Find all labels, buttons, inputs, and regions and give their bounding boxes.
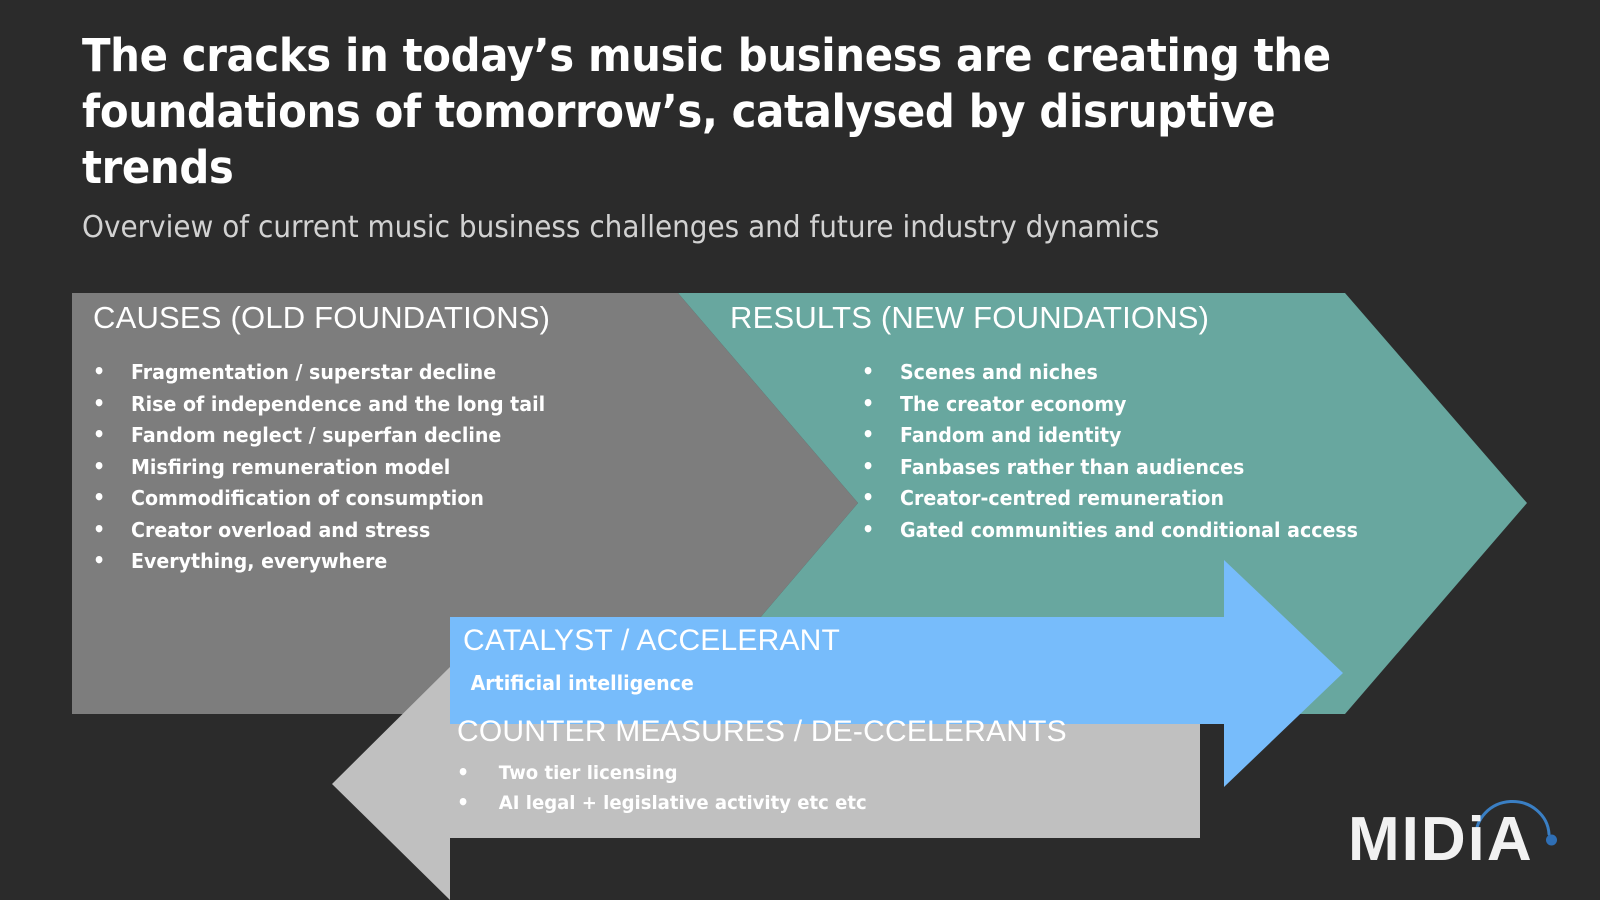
- logo-dot-icon: [1546, 835, 1557, 846]
- list-item: The creator economy: [862, 389, 1358, 421]
- list-item: Creator-centred remuneration: [862, 483, 1358, 515]
- causes-heading: CAUSES (OLD FOUNDATIONS): [93, 300, 550, 336]
- results-heading: RESULTS (NEW FOUNDATIONS): [730, 300, 1209, 336]
- list-item: Fandom neglect / superfan decline: [93, 420, 545, 452]
- slide-canvas: The cracks in today’s music business are…: [0, 0, 1600, 900]
- causes-bullet-list: Fragmentation / superstar decline Rise o…: [93, 357, 569, 578]
- list-item: Misfiring remuneration model: [93, 452, 545, 484]
- results-bullet-list: Scenes and niches The creator economy Fa…: [862, 357, 1384, 546]
- list-item: Gated communities and conditional access: [862, 515, 1358, 547]
- list-item: AI legal + legislative activity etc etc: [457, 788, 867, 818]
- catalyst-heading: CATALYST / ACCELERANT: [463, 624, 840, 658]
- list-item: Two tier licensing: [457, 758, 867, 788]
- logo-wordmark: MIDiA: [1348, 805, 1534, 872]
- catalyst-bullet-list: Artificial intelligence: [463, 668, 706, 700]
- list-item: Scenes and niches: [862, 357, 1358, 389]
- counter-measures-heading: COUNTER MEASURES / DE-CCELERANTS: [457, 715, 1067, 749]
- list-item: Creator overload and stress: [93, 515, 545, 547]
- list-item: Artificial intelligence: [463, 668, 694, 700]
- list-item: Rise of independence and the long tail: [93, 389, 545, 421]
- list-item: Fragmentation / superstar decline: [93, 357, 545, 389]
- midia-logo: MIDiA: [1348, 782, 1568, 872]
- counter-measures-bullet-list: Two tier licensing AI legal + legislativ…: [457, 758, 888, 818]
- list-item: Everything, everywhere: [93, 546, 545, 578]
- list-item: Fandom and identity: [862, 420, 1358, 452]
- list-item: Commodification of consumption: [93, 483, 545, 515]
- list-item: Fanbases rather than audiences: [862, 452, 1358, 484]
